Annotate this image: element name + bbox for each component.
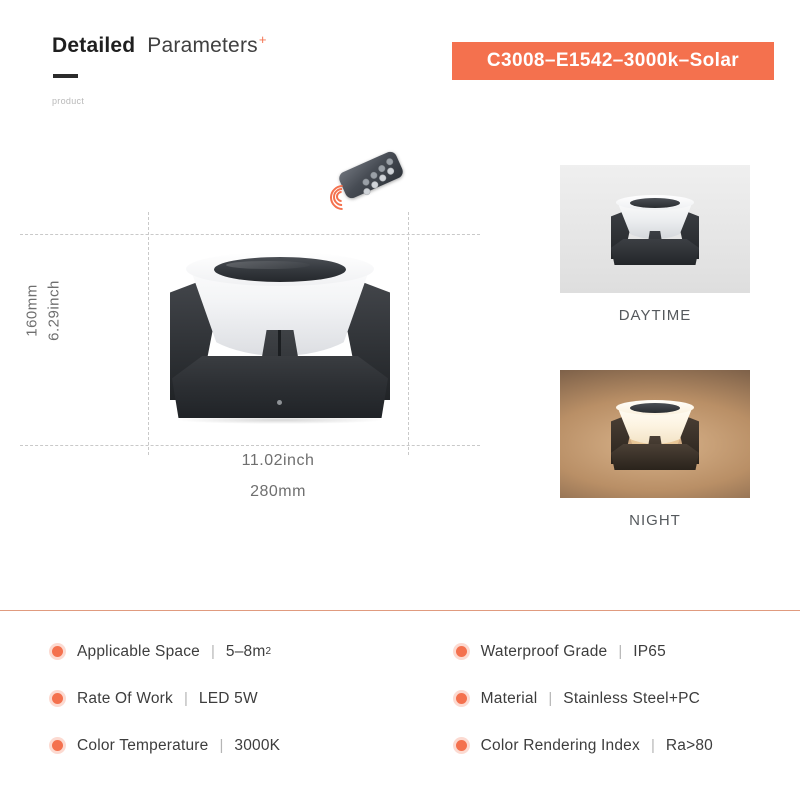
mini-solar-panel — [630, 198, 680, 208]
plus-icon: + — [259, 32, 267, 47]
spec-value: Stainless Steel+PC — [563, 690, 700, 708]
bullet-icon — [456, 740, 467, 751]
thumbnail-daytime-image[interactable] — [560, 165, 750, 293]
title-underline-rule — [53, 74, 78, 78]
guide-line-top — [20, 234, 480, 235]
remote-button — [369, 171, 378, 180]
spec-row: Color Rendering Index | Ra>80 — [456, 722, 800, 769]
page-title: DetailedParameters+ — [52, 32, 267, 58]
specs-divider — [0, 610, 800, 611]
spec-label: Waterproof Grade — [481, 643, 608, 661]
page-title-line: DetailedParameters+ — [52, 32, 267, 58]
specifications-section: Applicable Space | 5–8m2 Rate Of Work | … — [0, 628, 800, 769]
page-subtitle: product — [52, 96, 84, 106]
lamp-drop-shadow — [178, 416, 382, 424]
dimension-height-mm: 160mm — [24, 251, 41, 371]
remote-control-icon — [334, 155, 410, 211]
thumbnail-caption-night: NIGHT — [560, 512, 750, 529]
thumbnail-daytime[interactable]: DAYTIME — [560, 165, 750, 324]
thumbnail-caption-daytime: DAYTIME — [560, 307, 750, 324]
base-screw-icon — [277, 400, 282, 405]
page-title-strong: Detailed — [52, 34, 135, 57]
thumbnail-night[interactable]: NIGHT — [560, 370, 750, 529]
remote-button — [378, 173, 387, 182]
spec-separator: | — [651, 737, 655, 754]
spec-label: Color Rendering Index — [481, 737, 640, 755]
dimension-width-inch: 11.02inch — [148, 452, 408, 470]
remote-button — [362, 187, 371, 196]
model-badge-label: C3008–E1542–3000k–Solar — [487, 50, 739, 72]
dimension-height-inch: 6.29inch — [46, 251, 63, 371]
guide-line-right — [408, 212, 409, 455]
bullet-icon — [456, 693, 467, 704]
mini-base-plate — [611, 239, 699, 265]
model-badge: C3008–E1542–3000k–Solar — [452, 42, 774, 80]
spec-value: IP65 — [633, 643, 666, 661]
page-header: DetailedParameters+ product C3008–E1542–… — [0, 0, 800, 120]
mini-lamp-night — [605, 400, 705, 472]
remote-button — [385, 157, 394, 166]
mini-solar-panel — [630, 403, 680, 413]
product-illustration-lamp — [160, 248, 400, 433]
remote-button — [370, 180, 379, 189]
spec-row: Waterproof Grade | IP65 — [456, 628, 800, 675]
spec-separator: | — [618, 643, 622, 660]
thumbnail-night-image[interactable] — [560, 370, 750, 498]
remote-button — [386, 167, 395, 176]
guide-line-bottom — [20, 445, 480, 446]
spec-row: Material | Stainless Steel+PC — [456, 675, 800, 722]
specs-column-right: Waterproof Grade | IP65 Material | Stain… — [26, 628, 800, 769]
mini-base-plate — [611, 444, 699, 470]
spec-separator: | — [548, 690, 552, 707]
bullet-icon — [456, 646, 467, 657]
solar-panel-sheen — [226, 261, 310, 269]
page-title-normal: Parameters — [147, 34, 258, 57]
thumbnail-column: DAYTIME NIGHT — [520, 120, 800, 600]
spec-label: Material — [481, 690, 538, 708]
remote-button — [361, 178, 370, 187]
spec-value: Ra>80 — [666, 737, 713, 755]
remote-button — [377, 164, 386, 173]
lamp-base-plate — [172, 356, 388, 418]
product-dimension-diagram: 6.29inch 160mm 11.02inch 280mm — [0, 120, 520, 600]
dimension-width-mm: 280mm — [148, 483, 408, 501]
mini-lamp-daytime — [605, 195, 705, 267]
guide-line-left — [148, 212, 149, 455]
